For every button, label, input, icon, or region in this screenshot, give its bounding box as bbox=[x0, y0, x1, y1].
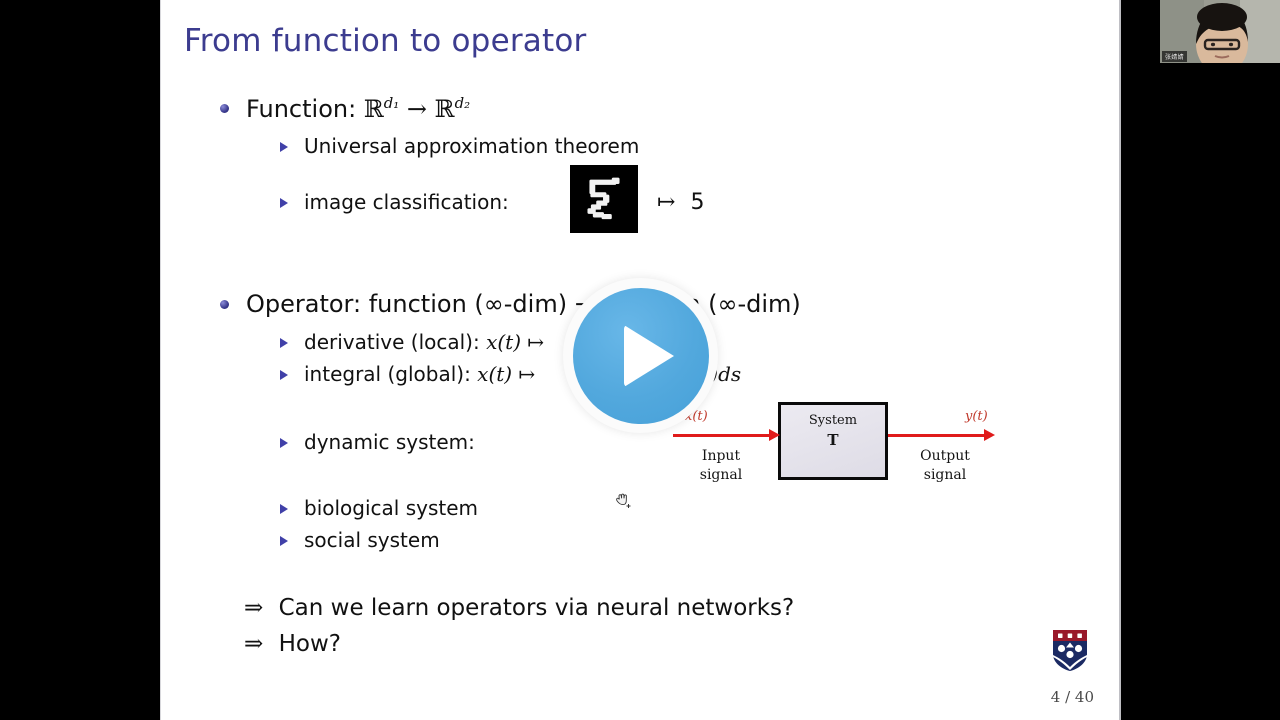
output-arrow-head bbox=[984, 429, 995, 441]
predicted-label: 5 bbox=[682, 190, 704, 215]
webcam-thumbnail[interactable]: 张婧婧 bbox=[1160, 0, 1280, 63]
bullet-triangle-derivative bbox=[280, 338, 288, 348]
system-operator-symbol: T bbox=[778, 431, 888, 449]
conclusion-line-1: ⇒ Can we learn operators via neural netw… bbox=[244, 595, 794, 621]
bullet-triangle-image-classification bbox=[280, 198, 288, 208]
bullet-triangle-uat bbox=[280, 142, 288, 152]
conclusion-text-1: Can we learn operators via neural networ… bbox=[271, 595, 795, 621]
bullet-ball-function bbox=[220, 104, 229, 113]
system-block-name: System bbox=[778, 413, 888, 428]
output-arrow-line bbox=[888, 434, 986, 437]
slide-left-edge bbox=[160, 0, 161, 720]
input-signal-label-line2: signal bbox=[669, 466, 773, 485]
integral-line: integral (global): x(t) ↦ bbox=[304, 362, 535, 386]
dynamic-system-text: dynamic system: bbox=[304, 430, 475, 454]
function-bullet-line: Function: ℝd₁ → ℝd₂ bbox=[246, 94, 470, 123]
conclusion-line-2: ⇒ How? bbox=[244, 631, 341, 657]
grab-hand-cursor-icon bbox=[612, 489, 634, 511]
video-player-stage: From function to operator Function: ℝd₁ … bbox=[0, 0, 1280, 720]
function-codomain-exponent: d₂ bbox=[455, 94, 471, 112]
integral-math: x(t) ↦ bbox=[477, 362, 535, 386]
output-signal-label: Output signal bbox=[893, 447, 997, 485]
image-classification-text: image classification: bbox=[304, 190, 509, 214]
play-triangle-icon bbox=[624, 325, 674, 387]
operator-label: Operator: bbox=[246, 290, 361, 318]
upenn-shield-logo bbox=[1050, 628, 1090, 672]
slide-title: From function to operator bbox=[184, 23, 586, 59]
webcam-name-tag: 张婧婧 bbox=[1162, 51, 1187, 62]
integral-label: integral (global): bbox=[304, 362, 471, 386]
output-signal-math: y(t) bbox=[965, 409, 988, 424]
function-label: Function: bbox=[246, 95, 356, 123]
bullet-triangle-dynamic-system bbox=[280, 438, 288, 448]
mapsto-symbol: ↦ bbox=[657, 190, 675, 215]
function-domain-exponent: d₁ bbox=[384, 94, 400, 112]
mnist-digit-image bbox=[570, 165, 638, 233]
page-indicator: 4 / 40 bbox=[1051, 688, 1094, 706]
mnist-digit-five-glyph bbox=[570, 165, 638, 233]
play-button[interactable] bbox=[563, 278, 718, 433]
operator-bullet-line: Operator: function (∞-dim) → function (∞… bbox=[246, 290, 801, 318]
derivative-math: x(t) ↦ bbox=[486, 330, 544, 354]
input-signal-label: Input signal bbox=[669, 447, 773, 485]
bullet-triangle-biological-system bbox=[280, 504, 288, 514]
operator-lhs: function (∞-dim) bbox=[369, 290, 567, 318]
input-signal-label-line1: Input bbox=[669, 447, 773, 466]
function-domain: ℝ bbox=[364, 95, 384, 123]
input-arrow-line bbox=[673, 434, 771, 437]
derivative-label: derivative (local): bbox=[304, 330, 480, 354]
output-signal-label-line2: signal bbox=[893, 466, 997, 485]
image-classification-mapsto: ↦ 5 bbox=[657, 190, 704, 215]
play-button-disc bbox=[573, 288, 709, 424]
implies-arrow-2: ⇒ bbox=[244, 631, 263, 657]
bullet-triangle-social-system bbox=[280, 536, 288, 546]
derivative-line: derivative (local): x(t) ↦ bbox=[304, 330, 544, 354]
bullet-triangle-integral bbox=[280, 370, 288, 380]
implies-arrow-1: ⇒ bbox=[244, 595, 263, 621]
social-system-text: social system bbox=[304, 528, 440, 552]
function-arrow: → bbox=[407, 95, 427, 123]
universal-approximation-theorem-text: Universal approximation theorem bbox=[304, 134, 639, 158]
dynamic-system-diagram: x(t) y(t) Input signal Output signal Sys… bbox=[665, 400, 1010, 490]
slide-right-edge bbox=[1119, 0, 1121, 720]
bullet-ball-operator bbox=[220, 300, 229, 309]
biological-system-text: biological system bbox=[304, 496, 478, 520]
function-codomain: ℝ bbox=[435, 95, 455, 123]
conclusion-text-2: How? bbox=[271, 631, 341, 657]
output-signal-label-line1: Output bbox=[893, 447, 997, 466]
